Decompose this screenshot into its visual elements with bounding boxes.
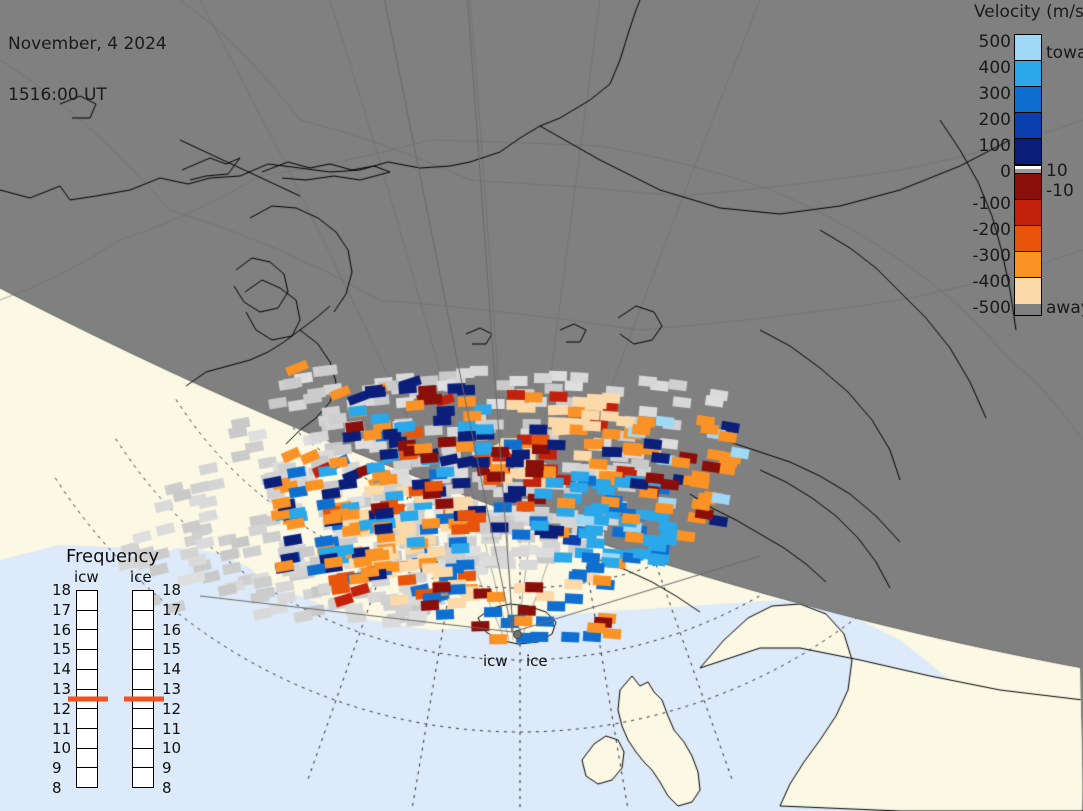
frequency-legend: Frequency icw ice 18171615141312111098 1… — [52, 546, 192, 786]
frequency-cell — [133, 611, 153, 631]
radar-station-marker[interactable] — [513, 630, 522, 639]
frequency-cell — [133, 768, 153, 787]
cbar-tick-500: 500 — [979, 32, 1011, 52]
frequency-tick-13-right: 13 — [162, 680, 181, 698]
timestamp-time: 1516:00 UT — [8, 87, 167, 104]
cbar-tick-100: 100 — [979, 136, 1011, 156]
cbar-label-toward: toward — [1046, 43, 1083, 63]
frequency-marker-icw — [68, 696, 108, 701]
frequency-cell — [77, 611, 97, 631]
station-label-icw: icw — [483, 652, 508, 670]
cbar-segment-away-3 — [1015, 252, 1041, 278]
timestamp: November, 4 2024 1516:00 UT — [8, 2, 167, 138]
frequency-tick-17-right: 17 — [162, 601, 181, 619]
frequency-column-icw: icw — [74, 568, 99, 586]
cbar-label-pos10: 10 — [1046, 161, 1068, 181]
frequency-tick-17-left: 17 — [52, 601, 71, 619]
station-label-ice: ice — [526, 652, 548, 670]
frequency-tick-11-right: 11 — [162, 720, 181, 738]
cbar-label-away: away — [1046, 298, 1083, 318]
frequency-tick-8-left: 8 — [52, 779, 62, 797]
frequency-cell — [77, 729, 97, 749]
frequency-column-ice: ice — [130, 568, 152, 586]
timestamp-date: November, 4 2024 — [8, 36, 167, 53]
frequency-cell — [77, 709, 97, 729]
frequency-tick-12-right: 12 — [162, 700, 181, 718]
frequency-cell — [133, 709, 153, 729]
cbar-label-neg10: -10 — [1046, 181, 1074, 201]
cbar-segment-away-2 — [1015, 226, 1041, 252]
velocity-colorbar[interactable] — [1014, 34, 1042, 316]
frequency-tick-12-left: 12 — [52, 700, 71, 718]
cbar-segment-toward-0 — [1015, 35, 1041, 61]
frequency-tick-10-left: 10 — [52, 739, 71, 757]
frequency-legend-title: Frequency — [66, 546, 159, 567]
cbar-segment-away-1 — [1015, 200, 1041, 226]
frequency-cell — [77, 630, 97, 650]
cbar-tick-200: 200 — [979, 110, 1011, 130]
fan-plot-window: November, 4 2024 1516:00 UT icw ice Velo… — [0, 0, 1083, 811]
cbar-tick-m100: -100 — [972, 194, 1011, 214]
frequency-cell — [77, 650, 97, 670]
frequency-cell — [133, 670, 153, 690]
velocity-legend: Velocity (m/s) 500 400 300 200 100 0 -10… — [966, 0, 1083, 330]
cbar-tick-m500: -500 — [972, 298, 1011, 318]
frequency-cell — [133, 729, 153, 749]
frequency-tick-9-right: 9 — [162, 759, 172, 777]
frequency-tick-13-left: 13 — [52, 680, 71, 698]
cbar-tick-300: 300 — [979, 84, 1011, 104]
frequency-cell — [77, 670, 97, 690]
frequency-bar-ice[interactable] — [132, 590, 154, 788]
frequency-tick-16-left: 16 — [52, 621, 71, 639]
frequency-tick-8-right: 8 — [162, 779, 172, 797]
frequency-cell — [77, 591, 97, 611]
frequency-cell — [133, 650, 153, 670]
frequency-tick-14-left: 14 — [52, 660, 71, 678]
frequency-tick-18-left: 18 — [52, 581, 71, 599]
cbar-tick-m400: -400 — [972, 272, 1011, 292]
frequency-tick-18-right: 18 — [162, 581, 181, 599]
frequency-cell — [133, 749, 153, 769]
cbar-tick-0: 0 — [1000, 162, 1011, 182]
cbar-segment-away-4 — [1015, 278, 1041, 304]
frequency-tick-9-left: 9 — [52, 759, 62, 777]
velocity-legend-title: Velocity (m/s) — [974, 2, 1083, 22]
cbar-tick-400: 400 — [979, 58, 1011, 78]
cbar-segment-away-0 — [1015, 174, 1041, 200]
cbar-segment-toward-2 — [1015, 87, 1041, 113]
cbar-tick-m300: -300 — [972, 246, 1011, 266]
cbar-segment-toward-1 — [1015, 61, 1041, 87]
cbar-tick-m200: -200 — [972, 220, 1011, 240]
cbar-segment-toward-3 — [1015, 113, 1041, 139]
frequency-tick-10-right: 10 — [162, 739, 181, 757]
frequency-tick-16-right: 16 — [162, 621, 181, 639]
frequency-tick-15-right: 15 — [162, 640, 181, 658]
cbar-segment-zero — [1015, 165, 1041, 174]
frequency-cell — [133, 630, 153, 650]
cbar-segment-toward-4 — [1015, 139, 1041, 165]
frequency-bar-icw[interactable] — [76, 590, 98, 788]
frequency-marker-ice — [124, 696, 164, 701]
frequency-tick-11-left: 11 — [52, 720, 71, 738]
frequency-cell — [77, 768, 97, 787]
frequency-tick-15-left: 15 — [52, 640, 71, 658]
frequency-cell — [133, 591, 153, 611]
frequency-tick-14-right: 14 — [162, 660, 181, 678]
frequency-cell — [77, 749, 97, 769]
